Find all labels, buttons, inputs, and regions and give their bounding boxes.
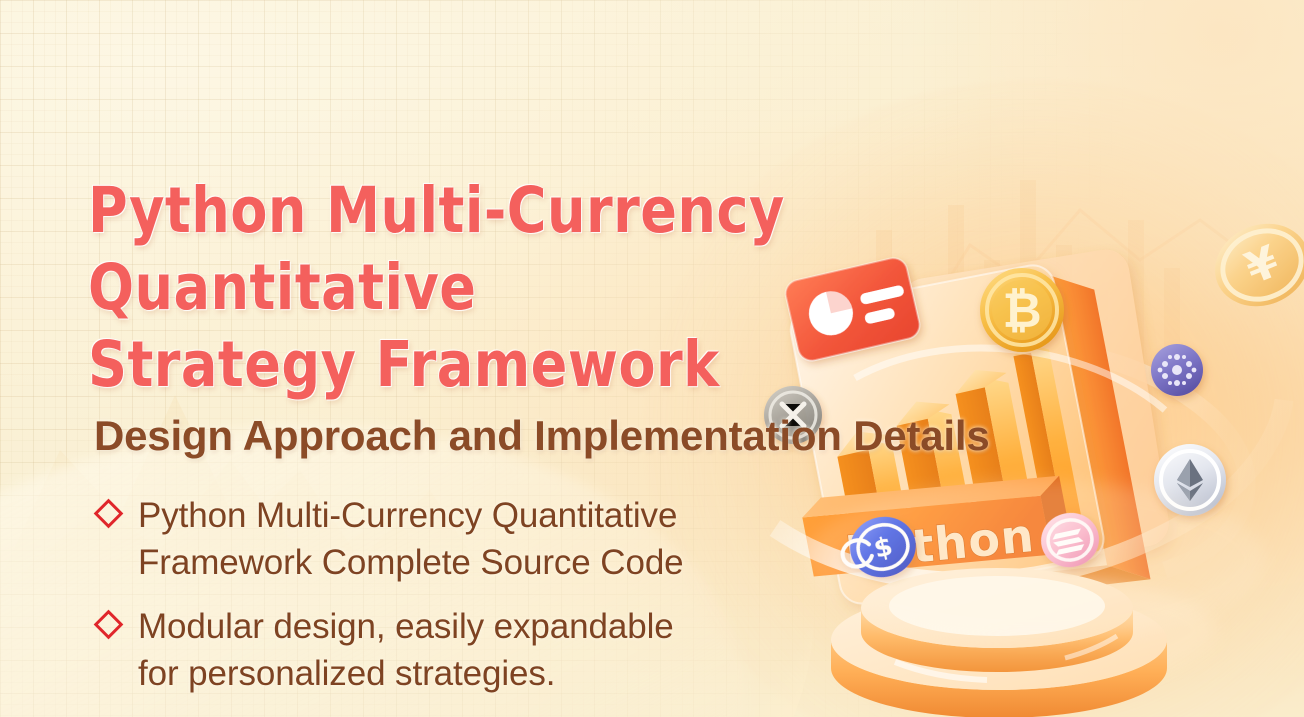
list-item: Modular design, easily expandable for pe…: [88, 603, 1268, 697]
banner-stage: Python: [0, 0, 1304, 717]
list-item-label: Python Multi-Currency Quantitative Frame…: [138, 492, 684, 586]
diamond-outline-icon: [94, 499, 124, 529]
diamond-outline-icon: [94, 610, 124, 640]
page-title: Python Multi-Currency Quantitative Strat…: [88, 172, 1103, 403]
text-content: Python Multi-Currency Quantitative Strat…: [88, 172, 1268, 714]
list-item: Python Multi-Currency Quantitative Frame…: [88, 492, 1268, 586]
feature-list: Python Multi-Currency Quantitative Frame…: [88, 492, 1268, 697]
list-item-label: Modular design, easily expandable for pe…: [138, 603, 674, 697]
page-subtitle: Design Approach and Implementation Detai…: [94, 410, 1268, 462]
